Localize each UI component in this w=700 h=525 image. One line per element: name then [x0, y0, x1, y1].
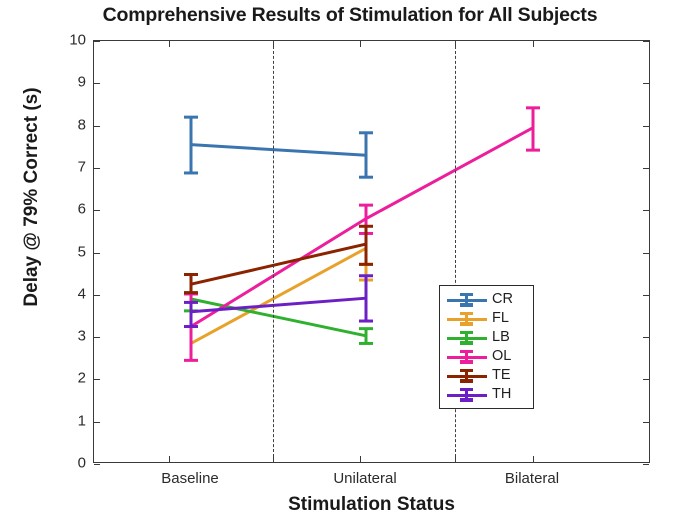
y-tick-mark: [643, 253, 649, 254]
series-line: [191, 145, 366, 156]
y-tick-label: 2: [46, 370, 86, 387]
y-tick-mark: [643, 464, 649, 465]
figure-window: Comprehensive Results of Stimulation for…: [0, 0, 700, 525]
y-tick-label: 5: [46, 243, 86, 260]
y-tick-mark: [94, 379, 100, 380]
legend-label: TH: [489, 387, 511, 402]
x-tick-mark: [533, 456, 534, 462]
legend-label: TE: [489, 368, 511, 383]
y-tick-label: 8: [46, 116, 86, 133]
y-tick-label: 0: [46, 455, 86, 472]
y-tick-label: 10: [46, 32, 86, 49]
legend-swatch-icon: [445, 310, 489, 328]
legend-label: LB: [489, 330, 510, 345]
y-tick-label: 1: [46, 412, 86, 429]
y-tick-label: 7: [46, 158, 86, 175]
legend-swatch-icon: [445, 329, 489, 347]
x-tick-label: Bilateral: [467, 470, 597, 487]
x-tick-label: Baseline: [125, 470, 255, 487]
legend-label: CR: [489, 292, 513, 307]
series-cr: [184, 117, 373, 177]
legend-label: OL: [489, 349, 511, 364]
x-tick-label: Unilateral: [300, 470, 430, 487]
series-canvas: [94, 41, 651, 464]
x-tick-mark: [169, 456, 170, 462]
y-tick-label: 4: [46, 285, 86, 302]
y-tick-mark: [643, 168, 649, 169]
x-tick-mark: [360, 456, 361, 462]
y-tick-mark: [94, 126, 100, 127]
y-tick-mark: [643, 295, 649, 296]
x-tick-mark: [169, 41, 170, 47]
legend: CRFLLBOLTETH: [439, 285, 534, 409]
plot-inner: [94, 41, 649, 462]
y-tick-mark: [94, 464, 100, 465]
y-tick-mark: [94, 337, 100, 338]
x-axis-label: Stimulation Status: [93, 494, 650, 516]
y-tick-mark: [94, 168, 100, 169]
y-tick-label: 6: [46, 201, 86, 218]
legend-item-cr[interactable]: CR: [440, 290, 533, 309]
y-tick-label: 3: [46, 328, 86, 345]
y-tick-mark: [94, 422, 100, 423]
page-title: Comprehensive Results of Stimulation for…: [0, 4, 700, 27]
legend-swatch-icon: [445, 367, 489, 385]
y-tick-mark: [643, 41, 649, 42]
y-tick-mark: [643, 422, 649, 423]
legend-item-ol[interactable]: OL: [440, 347, 533, 366]
legend-swatch-icon: [445, 291, 489, 309]
y-tick-mark: [643, 379, 649, 380]
y-tick-label: 9: [46, 74, 86, 91]
legend-label: FL: [489, 311, 509, 326]
y-tick-mark: [643, 337, 649, 338]
x-tick-mark: [360, 41, 361, 47]
y-tick-mark: [643, 210, 649, 211]
legend-item-te[interactable]: TE: [440, 366, 533, 385]
legend-item-lb[interactable]: LB: [440, 328, 533, 347]
y-axis-label: Delay @ 79% Correct (s): [21, 7, 43, 387]
y-tick-mark: [94, 210, 100, 211]
plot-area: [93, 40, 650, 463]
y-tick-mark: [643, 83, 649, 84]
legend-item-fl[interactable]: FL: [440, 309, 533, 328]
y-tick-mark: [94, 253, 100, 254]
legend-item-th[interactable]: TH: [440, 385, 533, 404]
y-tick-mark: [94, 83, 100, 84]
x-tick-mark: [533, 41, 534, 47]
y-tick-mark: [94, 41, 100, 42]
group-separator-line: [273, 41, 274, 462]
y-tick-mark: [643, 126, 649, 127]
legend-swatch-icon: [445, 386, 489, 404]
y-tick-mark: [94, 295, 100, 296]
legend-swatch-icon: [445, 348, 489, 366]
